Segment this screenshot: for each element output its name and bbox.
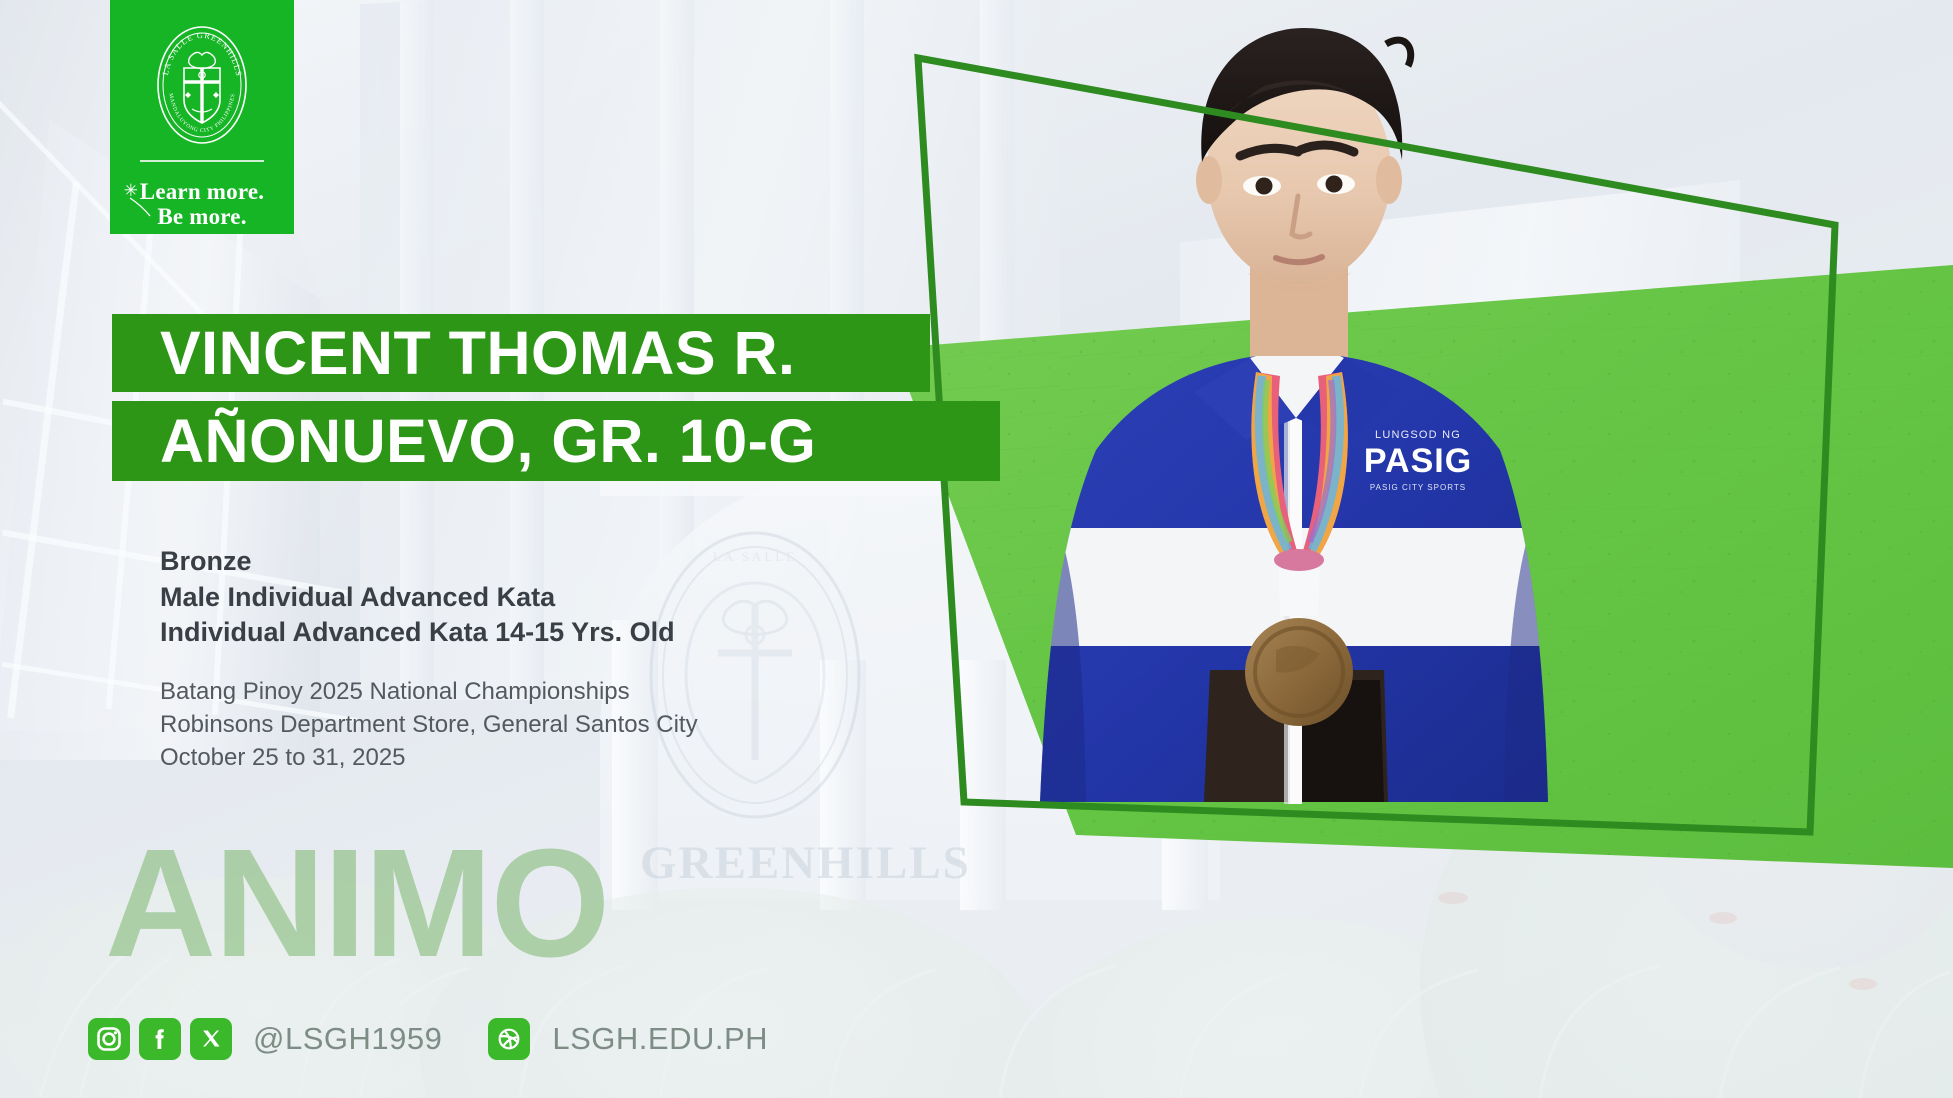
athlete-name-line-1: VINCENT THOMAS R. — [112, 314, 930, 392]
award-division: Individual Advanced Kata 14-15 Yrs. Old — [160, 615, 675, 651]
award-category: Male Individual Advanced Kata — [160, 580, 675, 616]
award-details: Bronze Male Individual Advanced Kata Ind… — [160, 544, 675, 651]
tagline-line-2: Be more. — [140, 205, 264, 230]
globe-icon[interactable] — [488, 1018, 530, 1060]
animo-watermark: ANIMO — [105, 826, 608, 980]
green-outline-polygon — [880, 0, 1953, 1098]
swoosh-icon — [128, 196, 154, 218]
la-salle-greenhills-seal-icon: LA SALLE GREENHILLS MANDALUYONG CITY PHI… — [154, 24, 250, 146]
instagram-icon[interactable] — [88, 1018, 130, 1060]
brand-tagline: ✳ Learn more. Be more. — [140, 180, 264, 230]
svg-text:LA SALLE: LA SALLE — [713, 549, 797, 564]
hero-graphic: LUNGSOD NG PASIG PASIG CITY SPORTS — [880, 0, 1953, 1098]
social-handle[interactable]: @LSGH1959 — [253, 1021, 442, 1057]
poster-canvas: LA SALLE GREENHILLS — [0, 0, 1953, 1098]
school-logo-block: LA SALLE GREENHILLS MANDALUYONG CITY PHI… — [110, 0, 294, 234]
x-twitter-icon[interactable] — [190, 1018, 232, 1060]
event-name: Batang Pinoy 2025 National Championships — [160, 675, 698, 708]
event-dates: October 25 to 31, 2025 — [160, 741, 698, 774]
tagline-line-1: Learn more. — [140, 180, 264, 205]
athlete-name-line-2: AÑONUEVO, GR. 10-G — [112, 401, 1000, 481]
facebook-icon[interactable] — [139, 1018, 181, 1060]
award-medal: Bronze — [160, 544, 675, 580]
website-url[interactable]: LSGH.EDU.PH — [552, 1021, 768, 1057]
event-details: Batang Pinoy 2025 National Championships… — [160, 675, 698, 774]
logo-divider — [140, 160, 264, 162]
footer-social-bar: @LSGH1959 LSGH.EDU.PH — [88, 1016, 768, 1062]
event-venue: Robinsons Department Store, General Sant… — [160, 708, 698, 741]
